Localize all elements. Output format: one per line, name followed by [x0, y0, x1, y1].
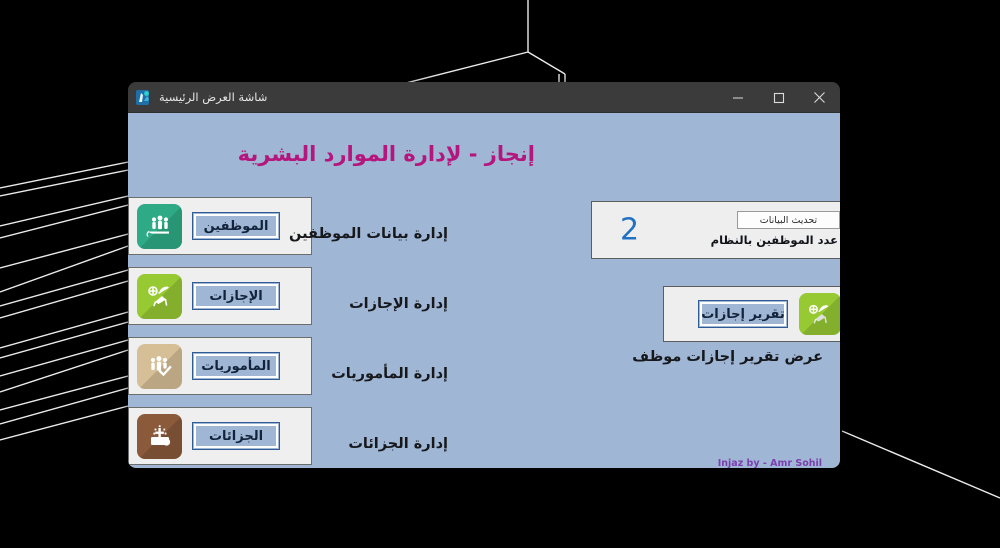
title-bar[interactable]: شاشة العرض الرئيسية: [128, 82, 840, 113]
penalty-cash-icon: [137, 414, 182, 459]
menu-row-employees-description: إدارة بيانات الموظفين: [289, 226, 448, 242]
menu-row-leaves[interactable]: الإجازات: [128, 267, 312, 325]
maximize-icon[interactable]: [758, 82, 799, 113]
employee-count-panel: 2 تحديث البيانات عدد الموظفين بالنظام: [591, 201, 840, 259]
client-area: إنجاز - لإدارة الموارد البشرية: [128, 113, 840, 468]
credit-label: Injaz by - Amr Sohil: [718, 458, 822, 468]
beach-chair-umbrella-icon: [799, 293, 840, 335]
menu-row-missions[interactable]: المأموريات: [128, 337, 312, 395]
employee-count-value: 2: [620, 213, 639, 248]
minimize-icon[interactable]: [717, 82, 758, 113]
menu-row-penalties[interactable]: الجزائات: [128, 407, 312, 465]
refresh-data-button[interactable]: تحديث البيانات: [737, 211, 840, 229]
leave-report-panel: تقرير إجازات: [663, 286, 840, 342]
menu-row-penalties-description: إدارة الجزائات: [348, 436, 448, 452]
leave-report-caption: عرض تقرير إجازات موظف: [632, 349, 823, 365]
penalties-button[interactable]: الجزائات: [192, 422, 280, 450]
menu-row-leaves-description: إدارة الإجازات: [349, 296, 448, 312]
window-title: شاشة العرض الرئيسية: [159, 90, 267, 104]
beach-chair-umbrella-icon: [137, 274, 182, 319]
screen: شاشة العرض الرئيسية إنجاز - لإدارة الموا…: [0, 0, 1000, 548]
menu-row-missions-description: إدارة المأموريات: [331, 366, 448, 382]
close-icon[interactable]: [799, 82, 840, 113]
leave-report-button[interactable]: تقرير إجازات: [698, 300, 788, 328]
menu-row-employees[interactable]: الموظفين: [128, 197, 312, 255]
people-check-icon: [137, 344, 182, 389]
leaves-button[interactable]: الإجازات: [192, 282, 280, 310]
app-logo-icon: [135, 89, 152, 106]
page-title: إنجاز - لإدارة الموارد البشرية: [238, 142, 535, 166]
application-window: شاشة العرض الرئيسية إنجاز - لإدارة الموا…: [128, 82, 840, 468]
employee-count-label: عدد الموظفين بالنظام: [711, 233, 838, 247]
missions-button[interactable]: المأموريات: [192, 352, 280, 380]
window-controls: [717, 82, 840, 113]
employees-on-hand-icon: [137, 204, 182, 249]
employees-button[interactable]: الموظفين: [192, 212, 280, 240]
